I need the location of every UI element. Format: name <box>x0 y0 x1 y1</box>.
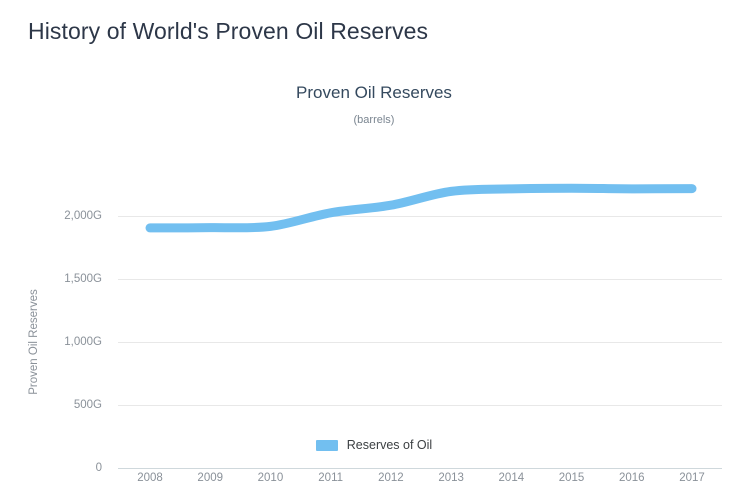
legend-label-reserves-of-oil: Reserves of Oil <box>347 438 432 452</box>
x-tick-label: 2017 <box>679 472 705 484</box>
x-tick-label: 2016 <box>619 472 645 484</box>
legend-swatch-reserves-of-oil <box>316 440 338 451</box>
series-line-reserves-of-oil <box>0 70 748 475</box>
x-tick-label: 2010 <box>258 472 284 484</box>
x-tick-label: 2011 <box>318 472 343 484</box>
chart-legend: Reserves of Oil <box>0 438 748 452</box>
x-tick-label: 2008 <box>137 472 163 484</box>
chart-container: Proven Oil Reserves (barrels) Proven Oil… <box>0 70 748 475</box>
x-tick-label: 2013 <box>438 472 464 484</box>
x-tick-label: 2012 <box>378 472 404 484</box>
x-tick-label: 2009 <box>197 472 223 484</box>
x-tick-label: 2015 <box>559 472 585 484</box>
page-title: History of World's Proven Oil Reserves <box>28 18 428 45</box>
x-tick-label: 2014 <box>499 472 525 484</box>
